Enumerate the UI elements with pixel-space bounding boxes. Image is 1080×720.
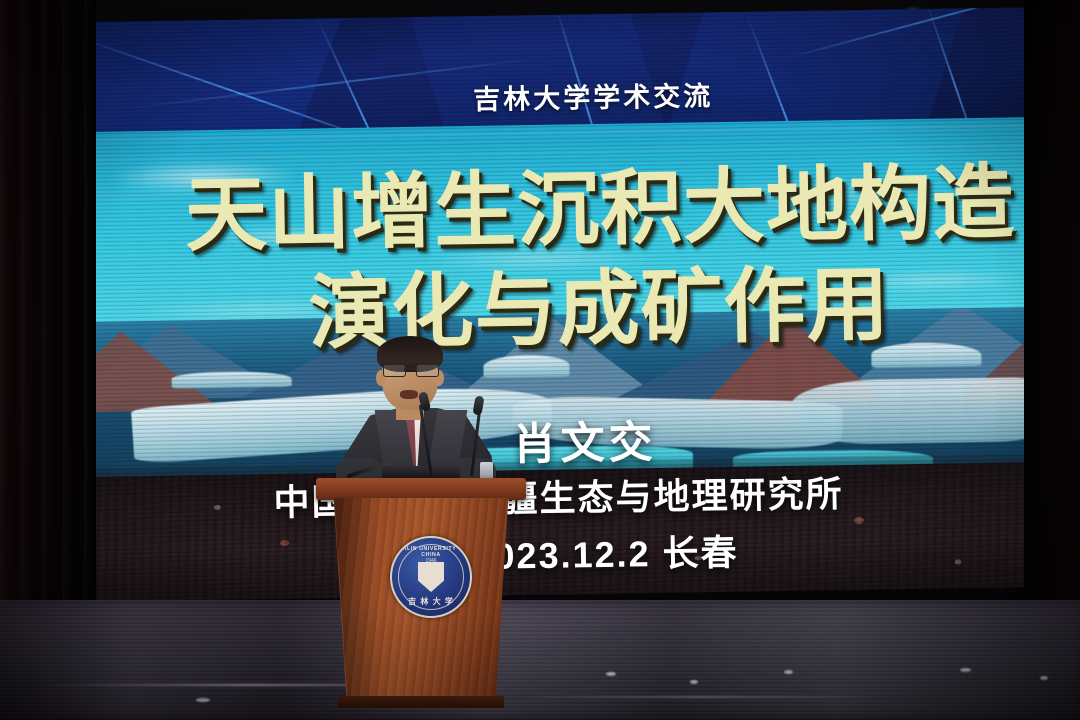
floor-highlight: [960, 668, 971, 672]
floor-reflection: [520, 696, 880, 698]
eyeglasses: [383, 364, 437, 375]
led-screen: 吉林大学学术交流 天山增生沉积大地构造 演化与成矿作用 肖文交 中国科学院新疆生…: [86, 7, 1043, 602]
glasses-bridge: [404, 368, 416, 370]
right-curtain: [1024, 0, 1080, 640]
podium-shadow: [326, 498, 378, 706]
emblem-label-bottom: 吉 林 大 学: [392, 596, 470, 607]
lens-left: [383, 364, 406, 377]
polygon-shape: [86, 8, 346, 140]
rock-speck: [214, 505, 221, 510]
floor-highlight: [784, 670, 793, 674]
polygon-shape: [406, 7, 674, 140]
mouth: [400, 390, 418, 399]
emblem-label-top: JILIN UNIVERSITY · CHINA: [392, 546, 470, 558]
slide-kicker: 吉林大学学术交流: [473, 74, 714, 117]
rock-speck: [280, 540, 289, 546]
lectern-podium: JILIN UNIVERSITY · CHINA 1946 吉 林 大 学: [316, 478, 526, 706]
podium-top-surface: [316, 478, 526, 500]
rock-speck: [955, 559, 962, 564]
photograph-scene: 吉林大学学术交流 天山增生沉积大地构造 演化与成矿作用 肖文交 中国科学院新疆生…: [0, 0, 1080, 720]
rock-speck: [854, 517, 864, 524]
floor-highlight: [196, 698, 210, 702]
floor-highlight: [1040, 676, 1048, 680]
mountain-rock-red: [91, 330, 222, 413]
podium-base: [338, 696, 504, 708]
glacier-tongue: [792, 377, 1042, 445]
jilin-university-emblem: JILIN UNIVERSITY · CHINA 1946 吉 林 大 学: [390, 536, 472, 618]
stage-floor: [0, 600, 1080, 720]
snow-cap: [172, 371, 292, 389]
floor-highlight: [606, 672, 616, 676]
floor-highlight: [690, 680, 698, 684]
left-curtain: [0, 0, 96, 640]
lens-right: [416, 364, 439, 377]
